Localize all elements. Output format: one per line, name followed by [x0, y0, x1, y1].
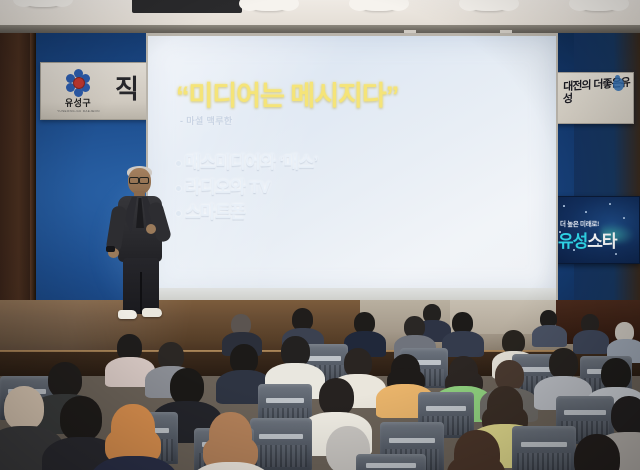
- head: [4, 386, 44, 430]
- calligraphy-figure-icon: [613, 78, 624, 91]
- shoulders: [188, 462, 274, 470]
- ceiling-dark-panel: [132, 0, 242, 13]
- slide-bullet: 스마트폰: [176, 200, 318, 225]
- slide-bullet-text: 라디오와 TV: [185, 178, 270, 197]
- bullet-dot-icon: [176, 161, 181, 166]
- banner-headline-partial: 직: [115, 69, 138, 106]
- audience-area: [0, 300, 640, 470]
- audience-member: [440, 430, 512, 470]
- audience-member: [536, 310, 564, 342]
- audience-member: [576, 314, 606, 348]
- head: [60, 396, 102, 441]
- presenter-hand-right: [146, 224, 156, 234]
- audience-member: [196, 412, 262, 470]
- slide-bullet-text: 매스미디어와 ‘매스’: [185, 153, 318, 172]
- ceiling-cloud-panel: [246, 0, 292, 11]
- flower-emblem-icon: [66, 70, 90, 94]
- theater-seat: [356, 454, 426, 470]
- audience-member: [446, 312, 480, 354]
- screen-bottom-edge: [148, 288, 556, 300]
- ceiling-cloud-panel: [576, 0, 622, 11]
- slide-attribution: - 마셜 맥루한: [180, 114, 233, 127]
- slide-bullet: 매스미디어와 ‘매스’: [176, 150, 318, 175]
- audience-member: [98, 404, 166, 470]
- head: [549, 348, 578, 379]
- audience-member: [610, 322, 640, 358]
- slide-bullet: 라디오와 TV: [176, 175, 318, 200]
- star-title: 유성스타: [558, 227, 617, 252]
- shoulders: [532, 325, 567, 347]
- head: [611, 396, 640, 435]
- left-wall-edge: [30, 33, 36, 325]
- left-wall-curtain: [0, 33, 34, 325]
- head: [601, 358, 631, 390]
- ceiling-cloud-panel: [466, 0, 512, 11]
- star-title-rest: 스타: [587, 232, 616, 251]
- slide-title: “미디어는 메시지다”: [176, 74, 398, 113]
- head: [170, 368, 204, 405]
- head: [319, 378, 354, 416]
- audience-member: [110, 334, 150, 382]
- district-name: 유성구: [65, 96, 91, 109]
- ceiling-cloud-panel: [20, 0, 66, 7]
- head: [574, 434, 620, 470]
- banner-yuseong-star: 더 높은 미래로! 유성스타: [550, 196, 640, 264]
- slide-bullet-text: 스마트폰: [185, 203, 245, 222]
- star-title-highlight: 유성: [558, 232, 587, 251]
- district-romanized: YUSEONG-GU DAEJEON: [57, 109, 100, 113]
- emblem-core: [73, 77, 85, 89]
- ceiling-cloud-panel: [356, 0, 402, 11]
- banner-calligraphy: 대전의 더좋은유성: [556, 72, 634, 124]
- slide-bullet-list: 매스미디어와 ‘매스’ 라디오와 TV 스마트폰: [176, 150, 318, 225]
- projection-screen: “미디어는 메시지다” - 마셜 맥루한 매스미디어와 ‘매스’ 라디오와 TV…: [148, 36, 556, 296]
- presentation-clicker-icon: [106, 246, 115, 252]
- shoulders: [442, 331, 484, 357]
- lecture-hall-photo: 유성구 YUSEONG-GU DAEJEON 직 대전의 더좋은유성 더 높은 …: [0, 0, 640, 470]
- shoulders: [90, 456, 178, 470]
- glasses-icon: [129, 177, 149, 182]
- audience-member: [560, 434, 634, 470]
- banner-logo-block: 유성구 YUSEONG-GU DAEJEON: [45, 66, 111, 116]
